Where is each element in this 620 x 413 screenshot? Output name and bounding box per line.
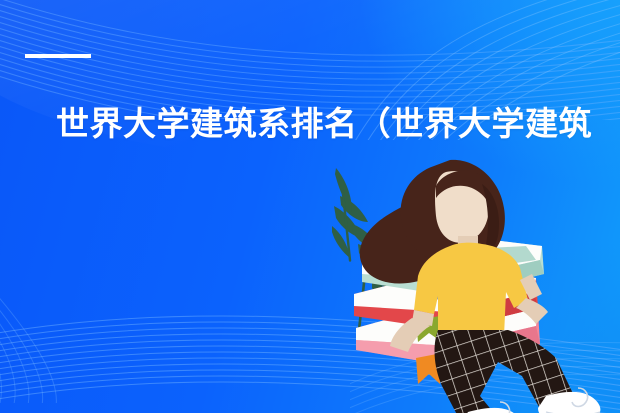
banner-image: 世界大学建筑系排名（世界大学建筑 — [0, 0, 620, 413]
page-title: 世界大学建筑系排名（世界大学建筑 — [56, 104, 620, 144]
decorative-rule — [25, 54, 91, 58]
hero-illustration — [330, 150, 620, 413]
wave-lines-top — [0, 0, 620, 120]
wave-lines-bottom-left — [0, 253, 250, 403]
background-sheen — [0, 0, 620, 170]
